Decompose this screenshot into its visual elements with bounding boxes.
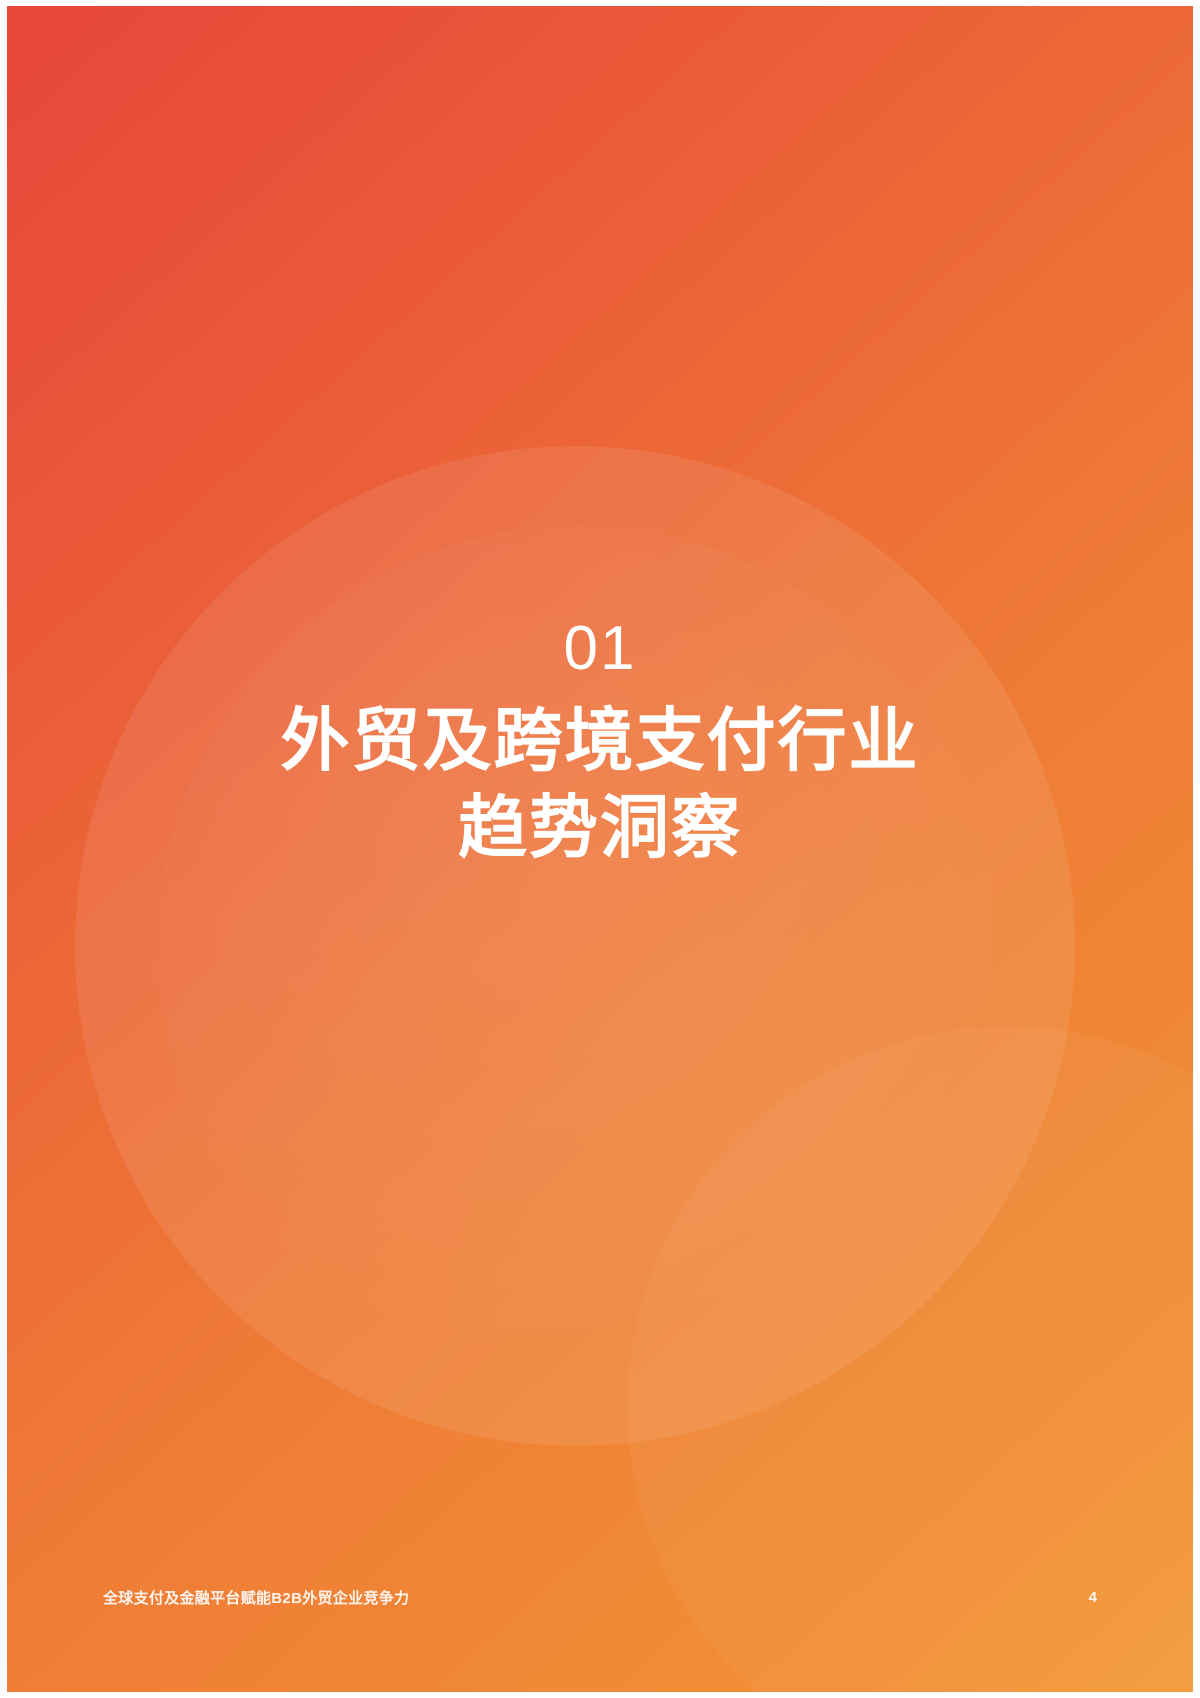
- section-number: 01: [67, 618, 1133, 680]
- page-title: 外贸及跨境支付行业 趋势洞察: [67, 698, 1133, 872]
- slide-footer: 全球支付及金融平台赋能B2B外贸企业竞争力 4: [7, 1586, 1193, 1608]
- background-circle-icon: [75, 446, 1075, 1446]
- page-title-line-2: 趋势洞察: [67, 785, 1133, 872]
- footer-document-title: 全球支付及金融平台赋能B2B外贸企业竞争力: [103, 1587, 409, 1608]
- page-title-line-1: 外贸及跨境支付行业: [67, 698, 1133, 785]
- slide-page: 01 外贸及跨境支付行业 趋势洞察 全球支付及金融平台赋能B2B外贸企业竞争力 …: [0, 0, 1200, 1698]
- footer-page-number: 4: [1089, 1589, 1097, 1606]
- section-title-block: 01 外贸及跨境支付行业 趋势洞察: [7, 618, 1193, 872]
- slide-canvas: 01 外贸及跨境支付行业 趋势洞察 全球支付及金融平台赋能B2B外贸企业竞争力 …: [7, 6, 1193, 1692]
